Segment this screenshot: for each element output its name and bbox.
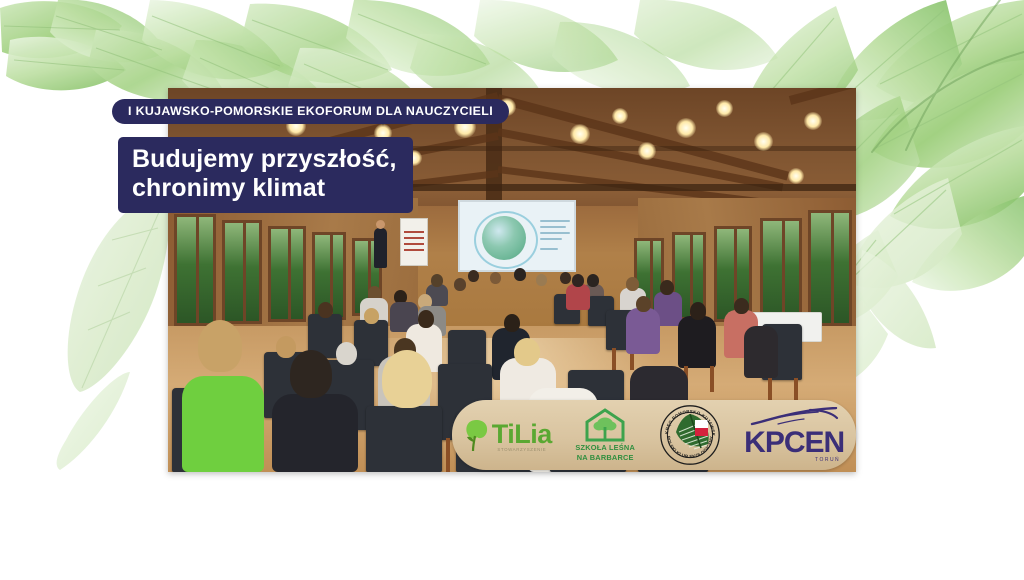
photo-window: [222, 220, 262, 324]
photo-attendee: [678, 316, 716, 368]
logo-tilia[interactable]: TiLia STOWARZYSZENIE: [464, 418, 552, 452]
photo-attendee-head: [560, 272, 571, 284]
photo-attendee-head: [276, 336, 296, 358]
photo-attendee-head: [454, 278, 466, 291]
photo-ceiling-lamp: [570, 124, 590, 144]
logo-kpcen-subtitle: TORUŃ: [815, 457, 840, 463]
leaf-cluster-right-low: [858, 250, 936, 348]
photo-attendee-head: [336, 342, 357, 365]
logo-kpcen[interactable]: KPCEN TORUŃ: [744, 407, 844, 464]
leaf-flag-seal-icon: OKRĘG POMORSKO-KUJAWSKI POLSKI KLUB EKOL…: [659, 404, 721, 466]
photo-attendee-head: [660, 280, 674, 295]
event-eyebrow-badge: I KUJAWSKO-POMORSKIE EKOFORUM DLA NAUCZY…: [112, 99, 509, 124]
photo-attendee-head: [198, 320, 242, 372]
logo-polski-klub-ekologiczny[interactable]: OKRĘG POMORSKO-KUJAWSKI POLSKI KLUB EKOL…: [659, 404, 721, 466]
photo-window: [174, 214, 216, 326]
photo-attendee-head: [504, 314, 520, 332]
house-tree-icon: [583, 408, 627, 442]
photo-projection-screen: [458, 200, 576, 272]
leaf-icon: [464, 418, 490, 452]
photo-ceiling-lamp: [804, 112, 822, 130]
photo-attendee-head: [690, 302, 706, 320]
photo-attendee-head: [318, 302, 333, 318]
leaf-cluster-left: [57, 190, 170, 470]
photo-window: [808, 210, 852, 326]
photo-attendee: [626, 308, 660, 354]
poster-canvas: TiLia STOWARZYSZENIE SZKOŁA LEŚNA NA BAR…: [0, 0, 1024, 580]
photo-ceiling-lamp: [612, 108, 628, 124]
photo-chair-leg: [710, 366, 714, 392]
logo-tilia-wordmark: TiLia: [492, 422, 552, 446]
photo-chair: [366, 406, 442, 472]
photo-attendee-head: [382, 350, 432, 408]
photo-chair-leg: [612, 348, 616, 370]
photo-attendee-green-sweater: [182, 376, 264, 472]
photo-attendee-head: [734, 298, 749, 314]
photo-attendee-head: [626, 277, 639, 291]
photo-attendee-head: [418, 310, 434, 328]
photo-attendee: [272, 394, 358, 472]
photo-ceiling-lamp: [754, 132, 773, 151]
photo-flipchart: [400, 218, 428, 266]
logo-kpcen-wordmark: KPCEN: [744, 429, 844, 458]
photo-attendee-head: [572, 274, 584, 287]
photo-window: [760, 218, 802, 324]
photo-attendee-head: [364, 308, 379, 324]
photo-attendee: [566, 284, 590, 310]
photo-attendee-head: [514, 268, 526, 281]
photo-attendee-head: [514, 338, 540, 366]
photo-attendee-head: [536, 274, 547, 286]
photo-attendee-head: [636, 296, 651, 312]
partner-logos-strip: TiLia STOWARZYSZENIE SZKOŁA LEŚNA NA BAR…: [452, 400, 856, 470]
photo-attendee-head: [587, 274, 599, 287]
photo-ceiling-lamp: [676, 118, 696, 138]
logo-szkola-line1: SZKOŁA LEŚNA: [575, 443, 635, 452]
photo-ceiling-lamp: [716, 100, 733, 117]
poster-headline: Budujemy przyszłość, chronimy klimat: [118, 137, 413, 213]
photo-window: [268, 226, 306, 322]
logo-tilia-subtitle: STOWARZYSZENIE: [497, 447, 546, 452]
photo-ceiling-lamp: [788, 168, 804, 184]
photo-attendee-head: [431, 274, 443, 287]
photo-attendee-head: [290, 350, 332, 398]
logo-szkola-lesna[interactable]: SZKOŁA LEŚNA NA BARBARCE: [575, 408, 635, 463]
photo-attendee-head: [468, 270, 479, 282]
photo-attendee-head: [490, 272, 501, 284]
photo-ceiling-lamp: [638, 142, 656, 160]
photo-attendee: [744, 326, 778, 378]
photo-slide-globe-icon: [482, 216, 526, 260]
logo-szkola-line2: NA BARBARCE: [577, 453, 634, 462]
photo-presenter: [374, 228, 387, 268]
photo-chair-leg: [446, 438, 450, 472]
